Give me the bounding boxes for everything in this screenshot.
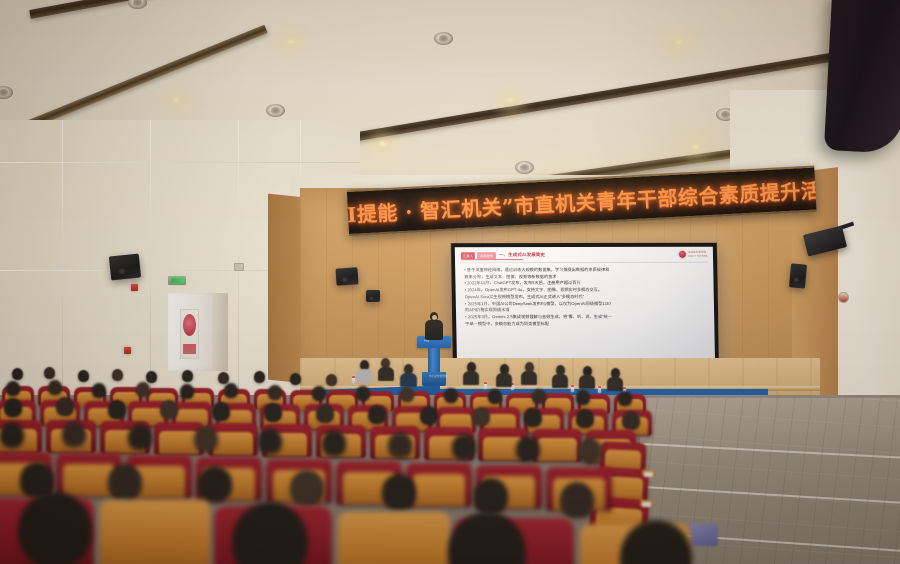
slide-body: • 基于深度神经网络，通过训练大规模的数据集，学习捕捉出数据的本质规律和 概率分… [464, 267, 707, 328]
auditorium-photo: “AI提能 · 智汇机关”市直机关青年干部综合素质提升活动 汇报人 讲座提纲 一… [0, 0, 900, 564]
water-bottle [484, 382, 487, 389]
podium-label: 中共某市委党校 [429, 374, 447, 378]
slide-divider [460, 262, 708, 263]
corridor-poster [180, 309, 199, 359]
fire-alarm-icon[interactable] [124, 347, 131, 354]
exit-sign-icon [168, 276, 186, 285]
water-bottle [571, 385, 574, 392]
speaker-icon [366, 290, 380, 302]
party-seal-icon [679, 251, 686, 258]
fire-alarm-icon[interactable] [131, 284, 138, 291]
slide-badge-rule [461, 259, 523, 260]
slide-line: 于单一模型中，多模态能力成为同类模型标配 [465, 321, 707, 328]
projector-icon [805, 222, 853, 258]
foreground-head [18, 492, 92, 564]
side-door[interactable] [168, 293, 228, 371]
speaker-icon [109, 253, 141, 280]
speaker-icon [789, 263, 807, 288]
presenter [424, 312, 444, 340]
wall-knob[interactable] [838, 292, 849, 303]
door-leaf[interactable] [212, 293, 228, 371]
podium: Pro 中共某市委党校 [417, 336, 451, 386]
slide-surface: 汇报人 讲座提纲 一、生成式AI发展简史 中共某市委党校 PARTY SCHOO… [455, 247, 715, 373]
wall-plate [234, 263, 244, 271]
bag-on-floor [690, 524, 718, 546]
podium-column [428, 348, 440, 372]
water-bottle [598, 386, 601, 393]
water-bottle [352, 376, 355, 383]
slide-logo: 中共某市委党校 PARTY SCHOOL [679, 251, 708, 258]
ceiling-acoustic-panel [824, 0, 900, 154]
slide-logo-line2: PARTY SCHOOL [688, 254, 708, 257]
speaker-icon [335, 267, 358, 285]
slide-title: 一、生成式AI发展简史 [499, 252, 545, 258]
